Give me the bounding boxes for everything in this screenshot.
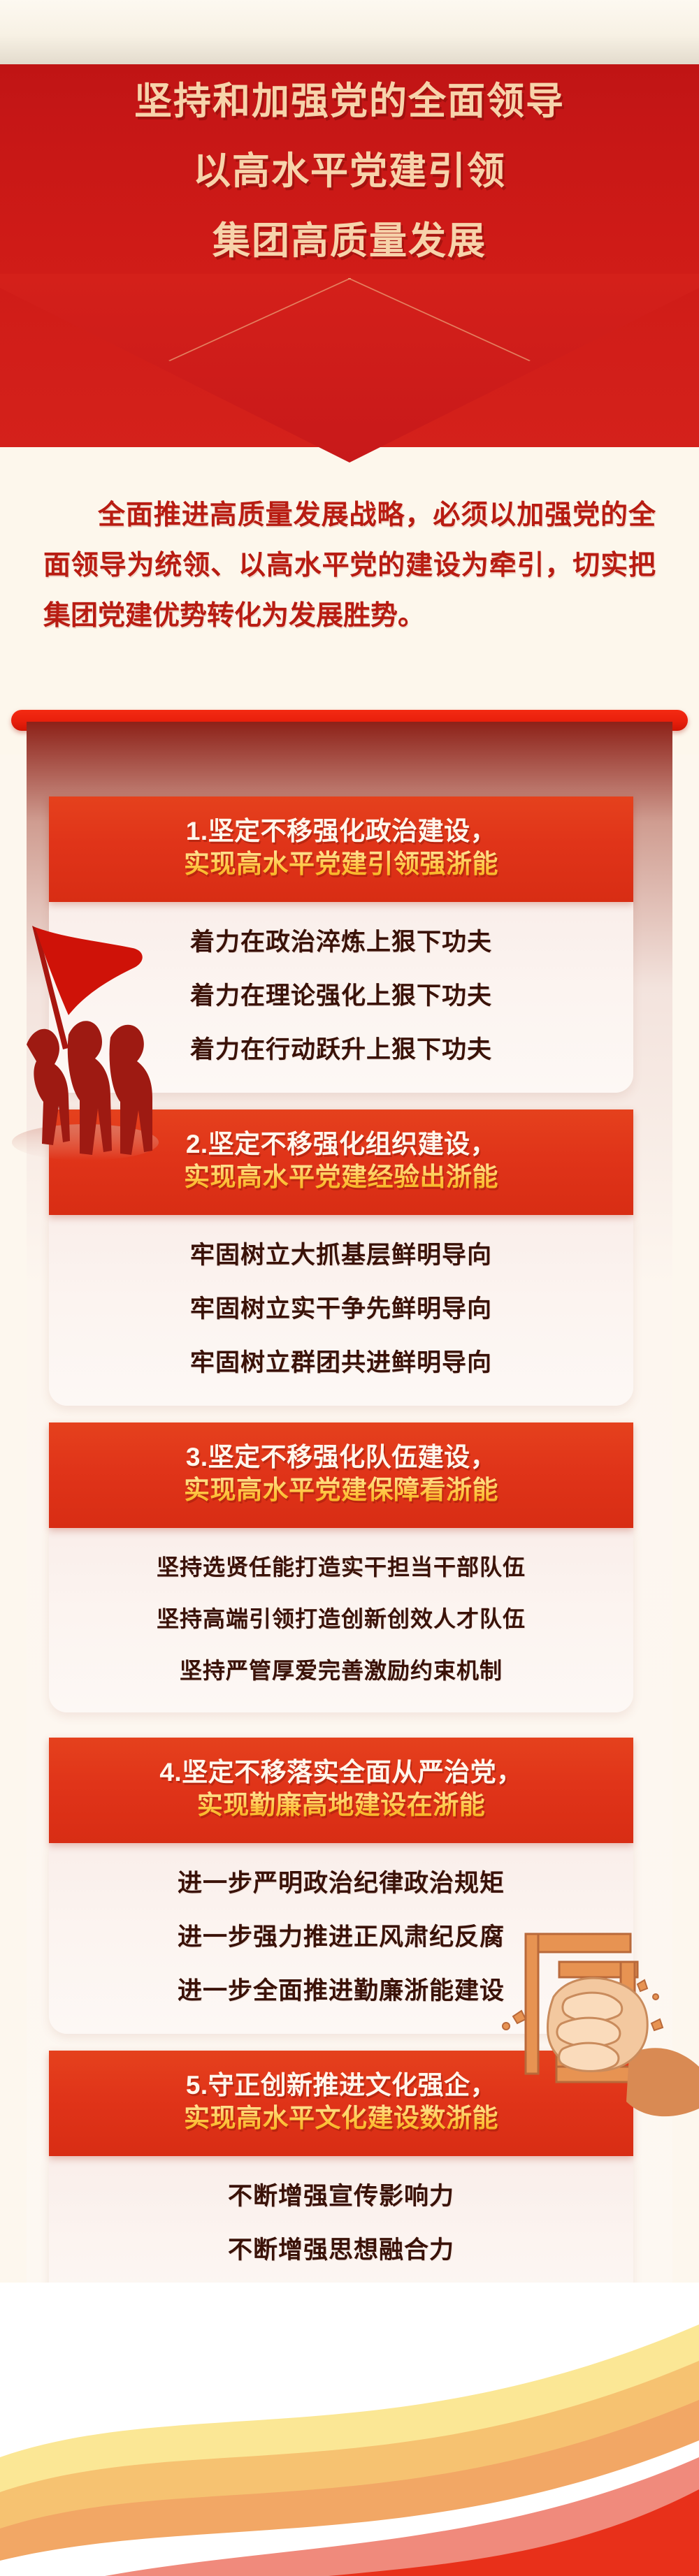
- section-4-head-line-2: 实现勤廉高地建设在浙能: [63, 1789, 619, 1821]
- list-item: 不断增强宣传影响力: [63, 2184, 619, 2208]
- section-1-header: 1.坚定不移强化政治建设， 实现高水平党建引领强浙能: [49, 796, 633, 902]
- list-item: 坚持严管厚爱完善激励约束机制: [63, 1659, 619, 1682]
- title-line-2: 以高水平党建引领: [0, 152, 699, 190]
- list-item: 坚持选贤任能打造实干担当干部队伍: [63, 1556, 619, 1578]
- list-item: 牢固树立大抓基层鲜明导向: [63, 1243, 619, 1267]
- section-3-head-line-1: 3.坚定不移强化队伍建设，: [63, 1441, 619, 1473]
- section-1-head-line-2: 实现高水平党建引领强浙能: [63, 847, 619, 880]
- hero-top-gradient: [0, 0, 699, 64]
- title-line-3: 集团高质量发展: [0, 222, 699, 260]
- list-item: 不断增强思想融合力: [63, 2238, 619, 2262]
- fist-icon: [547, 1978, 647, 2071]
- section-4-header: 4.坚定不移落实全面从严治党， 实现勤廉高地建设在浙能: [49, 1738, 633, 1843]
- section-4-head-line-1: 4.坚定不移落实全面从严治党，: [63, 1756, 619, 1789]
- section-3-body: 坚持选贤任能打造实干担当干部队伍 坚持高端引领打造创新创效人才队伍 坚持严管厚爱…: [49, 1528, 633, 1712]
- list-item: 牢固树立实干争先鲜明导向: [63, 1297, 619, 1321]
- chevron-gold-outline: [0, 278, 699, 443]
- marchers-with-flag-illustration: [1, 898, 211, 1177]
- bottom-decorative-ribbon: [0, 2283, 699, 2576]
- list-item: 牢固树立群团共进鲜明导向: [63, 1351, 619, 1375]
- list-item: 坚持高端引领打造创新创效人才队伍: [63, 1608, 619, 1630]
- section-3-header: 3.坚定不移强化队伍建设， 实现高水平党建保障看浙能: [49, 1422, 633, 1528]
- intro-section: 全面推进高质量发展战略，必须以加强党的全面领导为统领、以高水平党的建设为牵引，切…: [0, 447, 699, 755]
- intro-paragraph: 全面推进高质量发展战略，必须以加强党的全面领导为统领、以高水平党的建设为牵引，切…: [43, 490, 656, 641]
- section-3: 3.坚定不移强化队伍建设， 实现高水平党建保障看浙能 坚持选贤任能打造实干担当干…: [49, 1422, 633, 1712]
- title-line-1: 坚持和加强党的全面领导: [0, 82, 699, 120]
- page-title: 坚持和加强党的全面领导 以高水平党建引领 集团高质量发展: [0, 82, 699, 260]
- red-flag-icon: [35, 927, 143, 1015]
- poster-root: 坚持和加强党的全面领导 以高水平党建引领 集团高质量发展 全面推进高质量发展战略…: [0, 0, 699, 2576]
- section-1-head-line-1: 1.坚定不移强化政治建设，: [63, 815, 619, 847]
- finger-low: [559, 2043, 619, 2071]
- forearm-icon: [626, 2048, 699, 2116]
- chevron-banner-fold: [0, 274, 699, 463]
- section-2-body: 牢固树立大抓基层鲜明导向 牢固树立实干争先鲜明导向 牢固树立群团共进鲜明导向: [49, 1215, 633, 1406]
- section-3-head-line-2: 实现高水平党建保障看浙能: [63, 1473, 619, 1506]
- anti-corruption-fist-illustration: [489, 1879, 699, 2138]
